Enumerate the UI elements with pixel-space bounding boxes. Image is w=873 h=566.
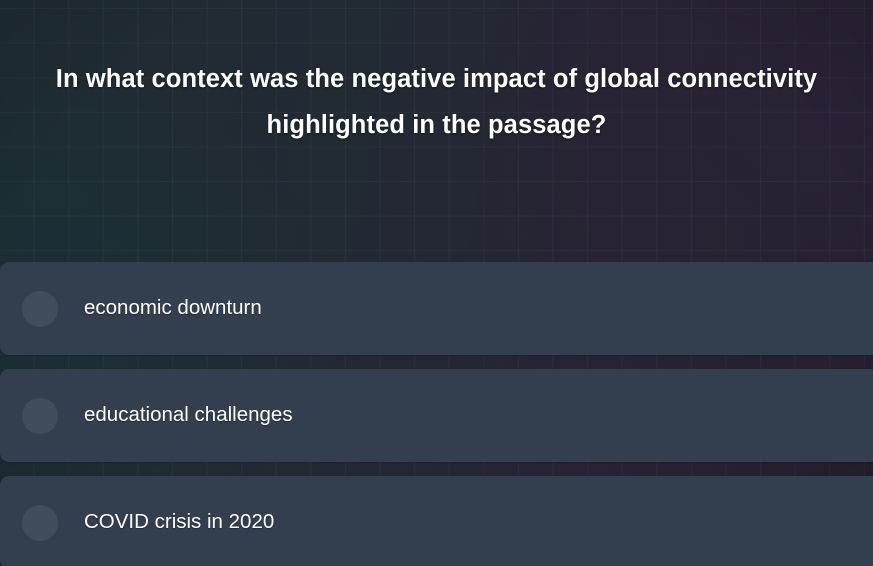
question-block: In what context was the negative impact …	[0, 56, 873, 148]
radio-button-icon-3[interactable]	[22, 505, 58, 541]
answer-option-label-3: COVID crisis in 2020	[84, 510, 274, 535]
quiz-question-screen: In what context was the negative impact …	[0, 0, 873, 566]
answer-option-label-2: educational challenges	[84, 403, 293, 428]
radio-button-icon-1[interactable]	[22, 291, 58, 327]
question-text: In what context was the negative impact …	[44, 56, 829, 148]
answer-option-2[interactable]: educational challenges	[0, 369, 873, 462]
radio-button-icon-2[interactable]	[22, 398, 58, 434]
answer-option-1[interactable]: economic downturn	[0, 262, 873, 355]
answer-option-label-1: economic downturn	[84, 296, 262, 321]
answer-option-3[interactable]: COVID crisis in 2020	[0, 476, 873, 566]
answer-options-list: economic downturn educational challenges…	[0, 262, 873, 566]
